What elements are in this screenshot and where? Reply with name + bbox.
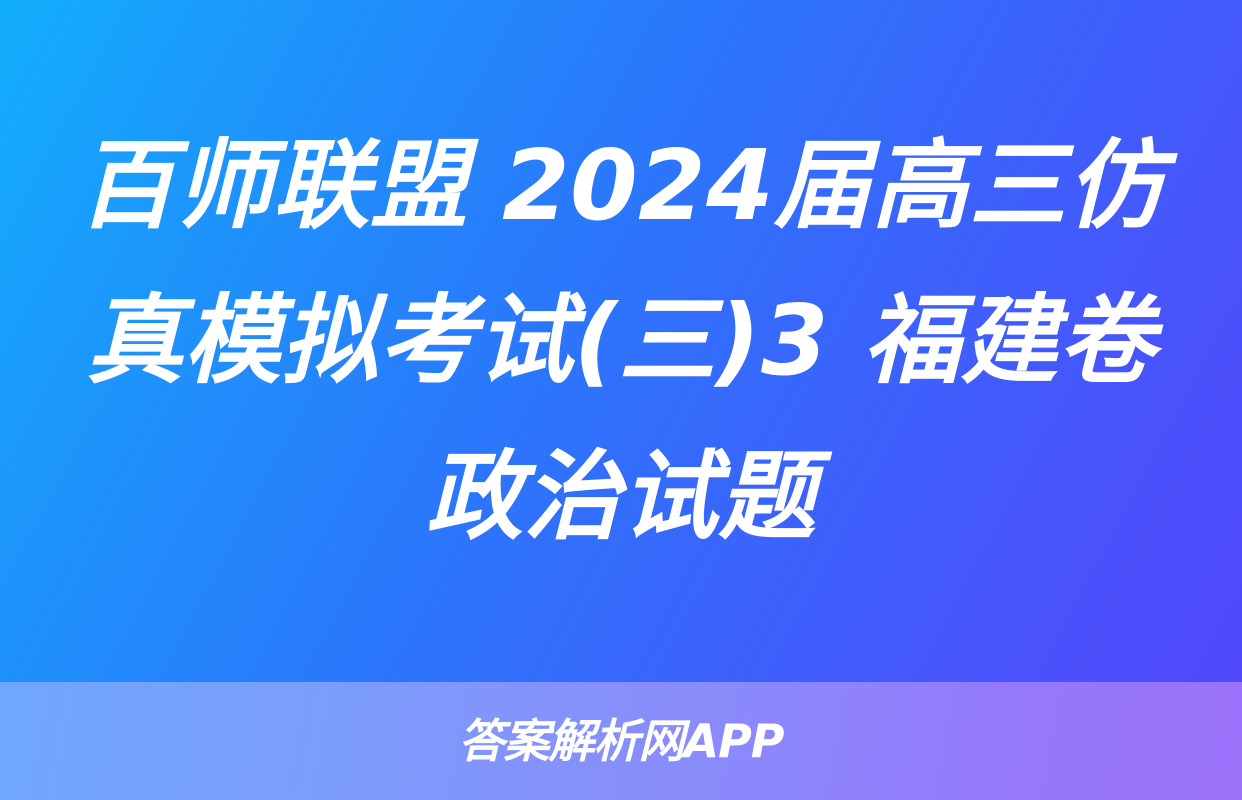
watermark-band: 答案解析网APP <box>0 682 1242 800</box>
watermark-label: 答案解析网APP <box>458 718 783 764</box>
poster-canvas: 百师联盟 2024届高三仿真模拟考试(三)3 福建卷政治试题 答案解析网APP <box>0 0 1242 800</box>
poster-title-block: 百师联盟 2024届高三仿真模拟考试(三)3 福建卷政治试题 <box>0 0 1242 682</box>
page-title: 百师联盟 2024届高三仿真模拟考试(三)3 福建卷政治试题 <box>71 108 1171 574</box>
